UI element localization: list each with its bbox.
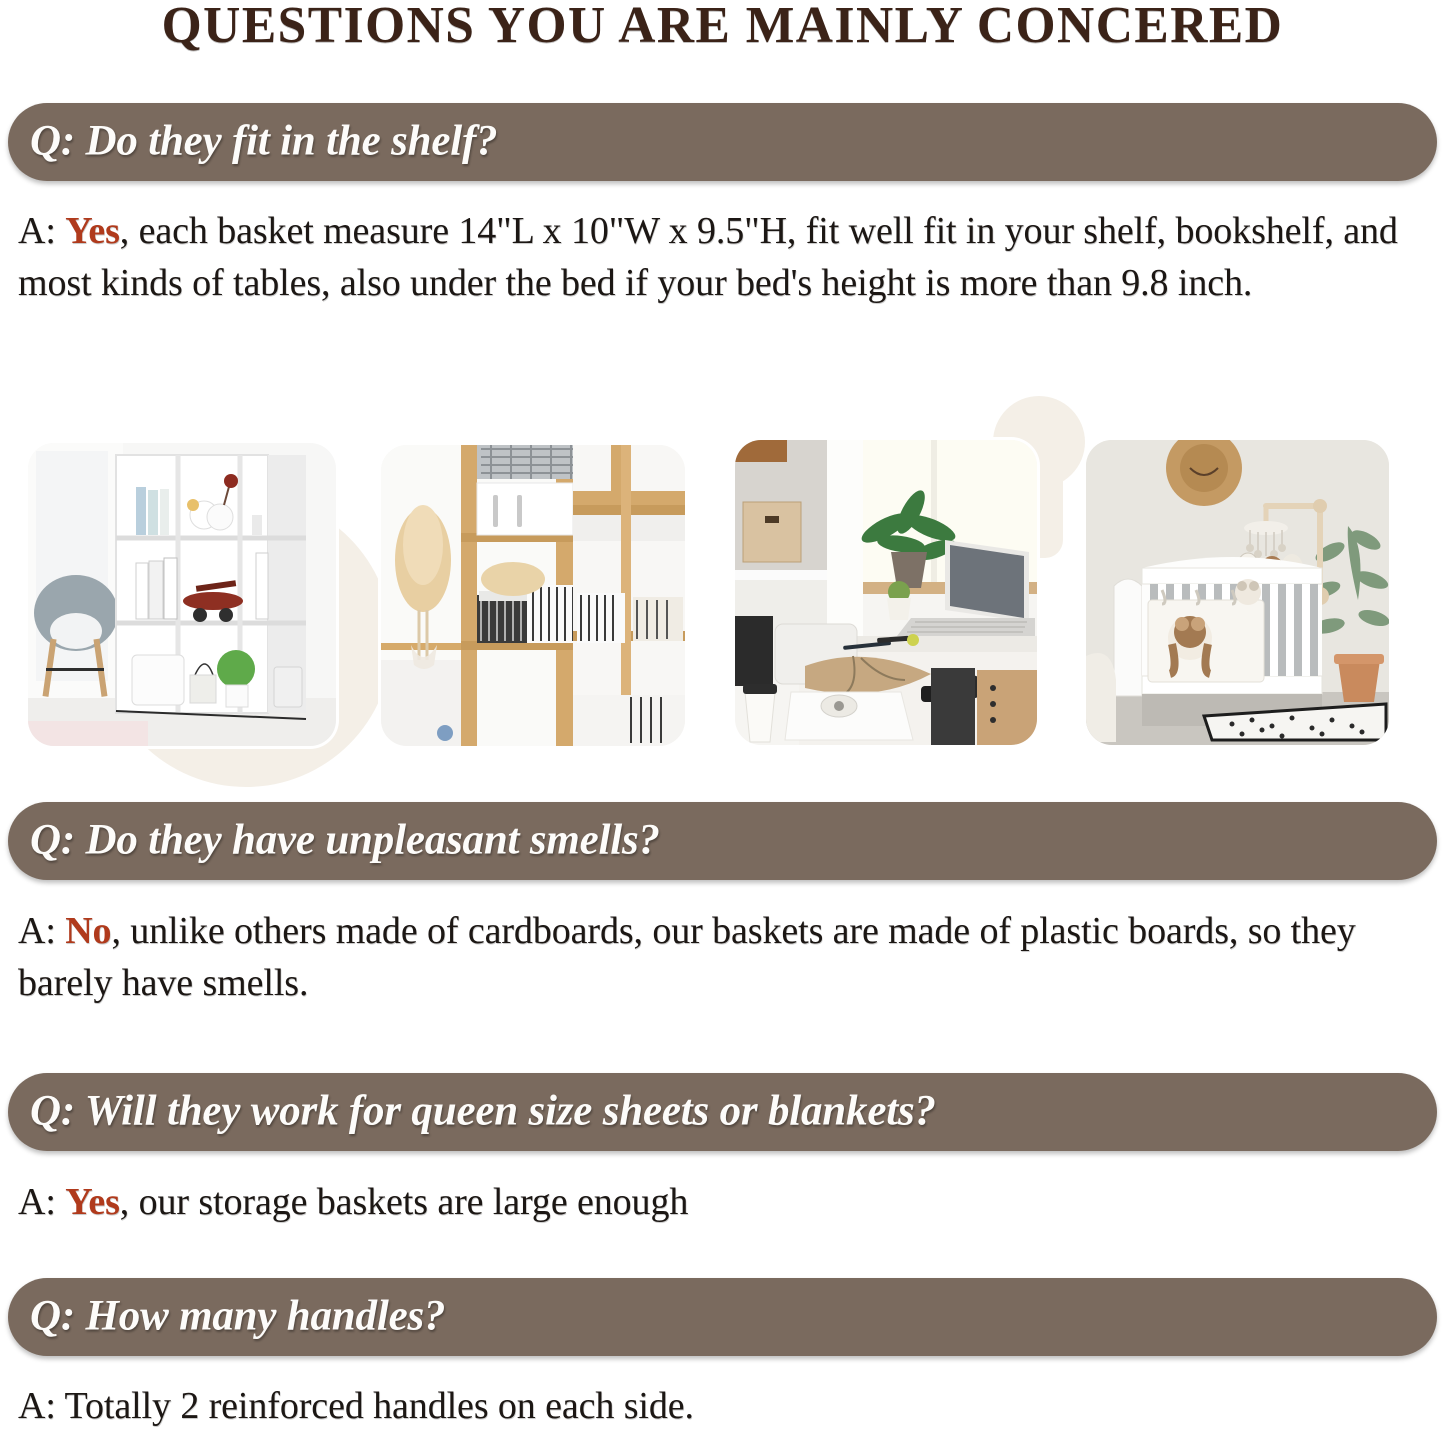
faq-answer-2: A: No, unlike others made of cardboards,…	[18, 905, 1438, 1009]
white-cube-bookshelf-with-baskets-in-living-room	[28, 443, 336, 746]
faq-question-text-2: Q: Do they have unpleasant smells?	[30, 816, 660, 865]
faq-question-text-4: Q: How many handles?	[30, 1292, 445, 1341]
faq-answer-3: A: Yes, our storage baskets are large en…	[18, 1176, 1438, 1228]
gallery-photo-1[interactable]	[28, 443, 336, 746]
faq-answer-1: A: Yes, each basket measure 14"L x 10"W …	[18, 205, 1438, 309]
faq-answer-highlight-2: No	[65, 910, 111, 952]
faq-question-bar-1[interactable]: Q: Do they fit in the shelf?	[8, 103, 1437, 181]
faq-answer-rest-2: , unlike others made of cardboards, our …	[18, 910, 1356, 1004]
faq-answer-rest-1: , each basket measure 14"L x 10"W x 9.5"…	[18, 210, 1398, 304]
gallery-photo-2[interactable]	[381, 445, 685, 746]
home-office-desk-with-laptop-and-parcel	[735, 440, 1037, 745]
faq-answer-prefix-3: A:	[18, 1181, 65, 1223]
faq-answer-prefix-1: A:	[18, 210, 65, 252]
faq-answer-highlight-3: Yes	[65, 1181, 120, 1223]
bamboo-bunk-bed-shelf-with-fabric-storage-bins	[381, 445, 685, 746]
faq-answer-highlight-1: Yes	[65, 210, 120, 252]
faq-question-text-1: Q: Do they fit in the shelf?	[30, 117, 497, 166]
faq-answer-prefix-2: A:	[18, 910, 65, 952]
faq-answer-rest-4: Totally 2 reinforced handles on each sid…	[65, 1385, 694, 1427]
faq-question-bar-4[interactable]: Q: How many handles?	[8, 1278, 1437, 1356]
faq-answer-prefix-4: A:	[18, 1385, 65, 1427]
faq-answer-rest-3: , our storage baskets are large enough	[120, 1181, 688, 1223]
faq-question-text-3: Q: Will they work for queen size sheets …	[30, 1087, 936, 1136]
gallery-photo-4[interactable]	[1086, 440, 1389, 745]
faq-question-bar-2[interactable]: Q: Do they have unpleasant smells?	[8, 802, 1437, 880]
page-title: QUESTIONS YOU ARE MAINLY CONCERED	[7, 0, 1438, 55]
faq-answer-4: A: Totally 2 reinforced handles on each …	[18, 1380, 1438, 1432]
gallery-photo-3[interactable]	[735, 440, 1037, 745]
faq-question-bar-3[interactable]: Q: Will they work for queen size sheets …	[8, 1073, 1437, 1151]
nursery-with-white-crib-and-mobile	[1086, 440, 1389, 745]
